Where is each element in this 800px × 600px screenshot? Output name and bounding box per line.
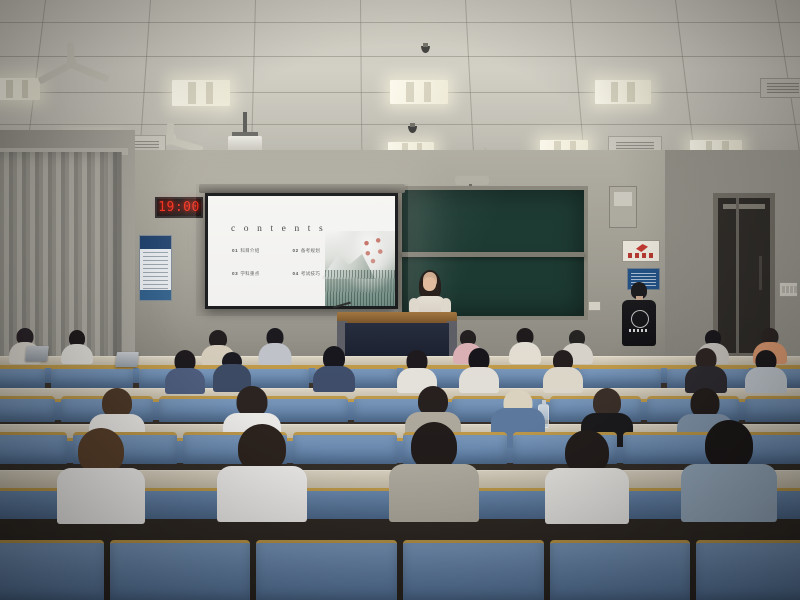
seat[interactable] [745,396,800,422]
seat[interactable] [51,366,133,388]
led-wall-clock: 19:00 [155,197,203,218]
list-item: 01科目介绍 [232,248,287,254]
student [212,352,252,390]
security-camera-icon [421,46,430,53]
item-number: 03 [232,271,238,276]
light-switch-panel[interactable] [779,282,798,297]
wall-control-box [609,186,637,228]
seat[interactable] [0,540,104,600]
item-label: 备考规划 [301,248,320,253]
student [388,422,480,520]
ceiling-light [172,80,230,106]
seat[interactable] [550,540,691,600]
ceiling-light [0,78,40,100]
student [744,350,788,390]
standing-person [622,282,656,360]
student [542,350,584,390]
air-vent [760,78,800,98]
student [164,350,206,390]
seat[interactable] [0,396,55,422]
left-wall-poster [139,235,172,301]
student [56,428,146,520]
item-label: 科目介绍 [240,248,259,253]
seat[interactable] [579,366,661,388]
student [258,328,292,362]
item-number: 02 [293,248,299,253]
seat[interactable] [110,540,251,600]
item-label: 学科重点 [240,271,259,276]
laptop[interactable] [115,352,139,367]
student [680,420,778,520]
laptop[interactable] [25,346,49,361]
screen-housing [199,184,405,193]
student [216,424,308,520]
item-number: 01 [232,248,238,253]
projection-screen: c o n t e n t s 01科目介绍 02备考规划 03学科重点 04考… [205,193,398,309]
list-item: 03学科重点 [232,271,287,277]
clock-time: 19:00 [158,200,200,215]
student [396,350,438,390]
power-outlet [588,301,601,311]
seat[interactable] [293,432,397,464]
seat[interactable] [0,366,45,388]
seat[interactable] [403,540,544,600]
slide-contents-list: 01科目介绍 02备考规划 03学科重点 04考试技巧 [232,248,347,277]
ceiling-fan [36,44,106,86]
board-lamp [455,176,489,185]
list-item: 04考试技巧 [293,271,348,277]
student [458,348,500,390]
ceiling-light [390,80,448,104]
student [684,348,728,390]
student [508,328,542,362]
lecture-hall-photo: 19:00 c o n t e n t s 01科目介绍 02备考规划 03学科… [0,0,800,600]
seat[interactable] [256,540,397,600]
list-item: 02备考规划 [293,248,348,254]
seat-row [0,540,800,600]
security-camera-icon [408,126,417,133]
seat[interactable] [696,540,800,600]
student [60,330,94,362]
slide-heading: c o n t e n t s [231,224,326,234]
ceiling-light [595,80,651,104]
emergency-notice-sign [622,240,660,262]
item-number: 04 [293,271,299,276]
presentation-slide: c o n t e n t s 01科目介绍 02备考规划 03学科重点 04考… [208,196,395,306]
student [312,346,356,390]
item-label: 考试技巧 [301,271,320,276]
student [544,430,630,522]
